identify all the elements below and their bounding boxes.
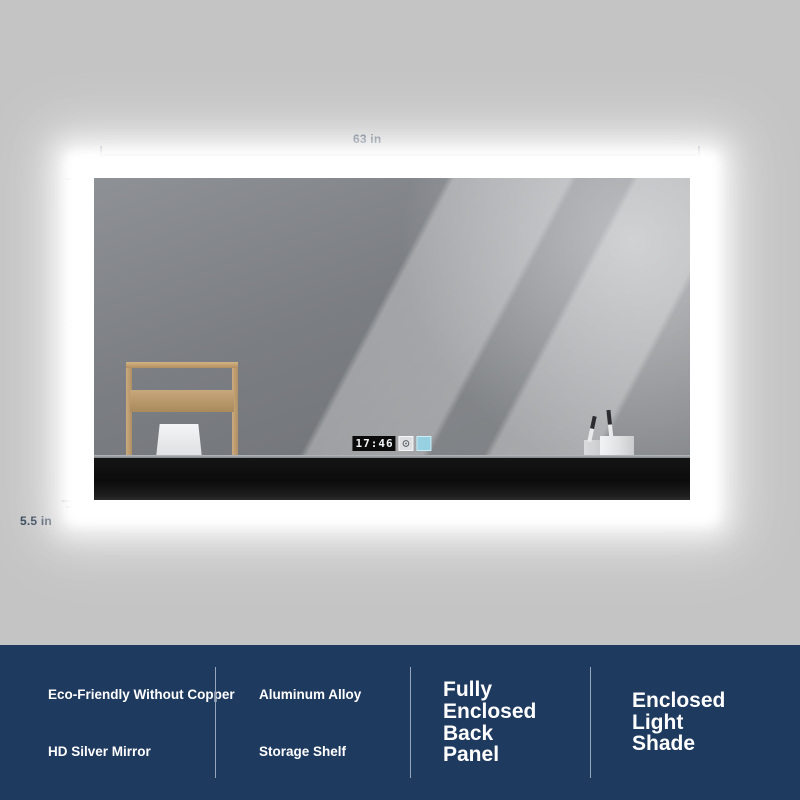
feature-aluminum-alloy: Aluminum Alloy <box>259 687 410 702</box>
column-separator-2 <box>410 667 411 778</box>
feature-storage-shelf: Storage Shelf <box>259 744 410 759</box>
led-mirror: 1 7 : 4 6 <box>72 158 712 518</box>
reflected-towel <box>156 424 202 458</box>
product-infographic: 63 in 34.6 in 5.5 in <box>0 0 800 800</box>
light-touch-icon[interactable] <box>417 436 432 451</box>
width-dimension-line <box>100 154 700 156</box>
reflected-ladder-shelf <box>126 362 238 458</box>
reflected-sunlight <box>400 178 690 488</box>
ladder-panel <box>130 390 234 412</box>
clock-touch-panel[interactable]: 1 7 : 4 6 <box>352 436 431 451</box>
feature-hd-silver-mirror: HD Silver Mirror <box>48 744 215 759</box>
defogger-icon[interactable] <box>399 436 414 451</box>
feature-fully-enclosed-back-panel: Fully Enclosed Back Panel <box>443 679 590 766</box>
mirror-glass: 1 7 : 4 6 <box>94 178 690 500</box>
digital-clock-display: 1 7 : 4 6 <box>352 436 395 451</box>
column-separator-1 <box>215 667 216 778</box>
feature-column-3: Fully Enclosed Back Panel <box>410 645 590 800</box>
feature-banner: Eco-Friendly Without Copper HD Silver Mi… <box>0 645 800 800</box>
feature-column-4: Enclosed Light Shade <box>590 645 800 800</box>
clock-colon: : <box>371 438 378 449</box>
feature-enclosed-light-shade: Enclosed Light Shade <box>632 690 800 755</box>
product-stage: 63 in 34.6 in 5.5 in <box>0 0 800 645</box>
depth-dimension-label: 5.5 in <box>20 514 52 528</box>
reflected-counter <box>94 458 690 500</box>
column-separator-3 <box>590 667 591 778</box>
counter-edge <box>94 455 690 458</box>
ladder-rail-top <box>126 362 238 368</box>
clock-digit: 6 <box>386 438 393 449</box>
clock-digit: 1 <box>355 438 362 449</box>
feature-eco-friendly: Eco-Friendly Without Copper <box>48 687 215 702</box>
width-dimension-label: 63 in <box>353 132 381 146</box>
feature-column-2: Aluminum Alloy Storage Shelf <box>215 645 410 800</box>
clock-digit: 4 <box>378 438 385 449</box>
feature-column-1: Eco-Friendly Without Copper HD Silver Mi… <box>0 645 215 800</box>
clock-digit: 7 <box>363 438 370 449</box>
